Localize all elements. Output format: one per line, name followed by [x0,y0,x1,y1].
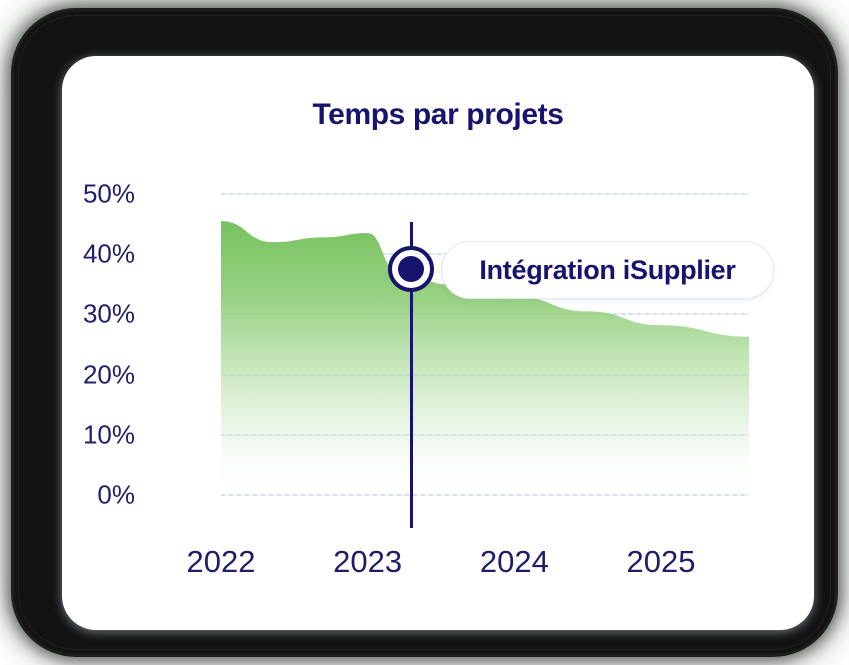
y-axis-tick-20pct: 20% [62,359,135,390]
chart-card: Temps par projets 50%40%30%20%10%0% [62,56,814,630]
y-axis-tick-40pct: 40% [62,239,135,270]
x-axis-tick-2024: 2024 [480,544,549,580]
y-axis-tick-10pct: 10% [62,419,135,450]
page-title: Temps par projets [62,98,814,132]
x-axis-tick-2023: 2023 [333,544,402,580]
area-series-temps-par-projets [221,194,749,495]
x-axis-tick-2022: 2022 [187,544,256,580]
annotation-tooltip-label: Intégration iSupplier [479,255,735,286]
annotation-tooltip[interactable]: Intégration iSupplier [441,241,774,299]
y-axis-tick-50pct: 50% [62,179,135,210]
y-axis-tick-0pct: 0% [62,480,135,511]
device-bezel: Temps par projets 50%40%30%20%10%0% [14,11,835,654]
plot-area [221,194,749,495]
data-point-marker[interactable] [388,246,434,292]
y-axis-tick-30pct: 30% [62,299,135,330]
x-axis-tick-2025: 2025 [627,544,696,580]
